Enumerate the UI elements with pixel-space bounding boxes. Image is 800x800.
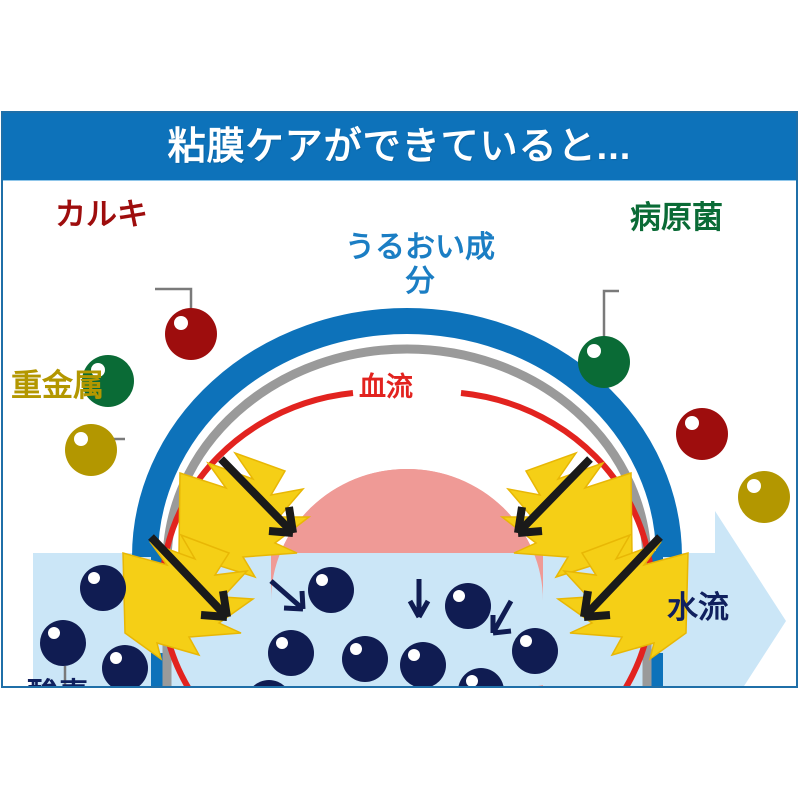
- particle-heavy-metal: [65, 424, 117, 476]
- illustration-stage: 粘膜ケアができていると...: [0, 0, 800, 800]
- label-chlorine: カルキ: [55, 198, 148, 233]
- label-moisture: うるおい成分: [335, 231, 505, 298]
- oxygen-dot: [512, 628, 558, 674]
- oxygen-dot: [80, 565, 126, 611]
- label-heavy-metals: 重金属: [11, 369, 104, 404]
- label-oxygen: 酸素: [27, 678, 89, 688]
- oxygen-dot: [342, 636, 388, 682]
- label-water-flow: 水流: [667, 591, 729, 626]
- oxygen-dot: [445, 583, 491, 629]
- particle-pathogen: [578, 336, 630, 388]
- particle-heavy-metal: [738, 471, 790, 523]
- page-title: 粘膜ケアができていると...: [3, 113, 796, 181]
- info-card: 粘膜ケアができていると...: [1, 111, 798, 688]
- label-blood-flow: 血流: [359, 372, 413, 402]
- oxygen-dot: [308, 567, 354, 613]
- particle-chlorine: [676, 408, 728, 460]
- particle-chlorine: [165, 308, 217, 360]
- oxygen-dot: [268, 630, 314, 676]
- label-pathogens: 病原菌: [630, 201, 723, 236]
- oxygen-dot: [40, 620, 86, 666]
- title-bar: 粘膜ケアができていると...: [3, 113, 796, 181]
- oxygen-dot: [400, 642, 446, 688]
